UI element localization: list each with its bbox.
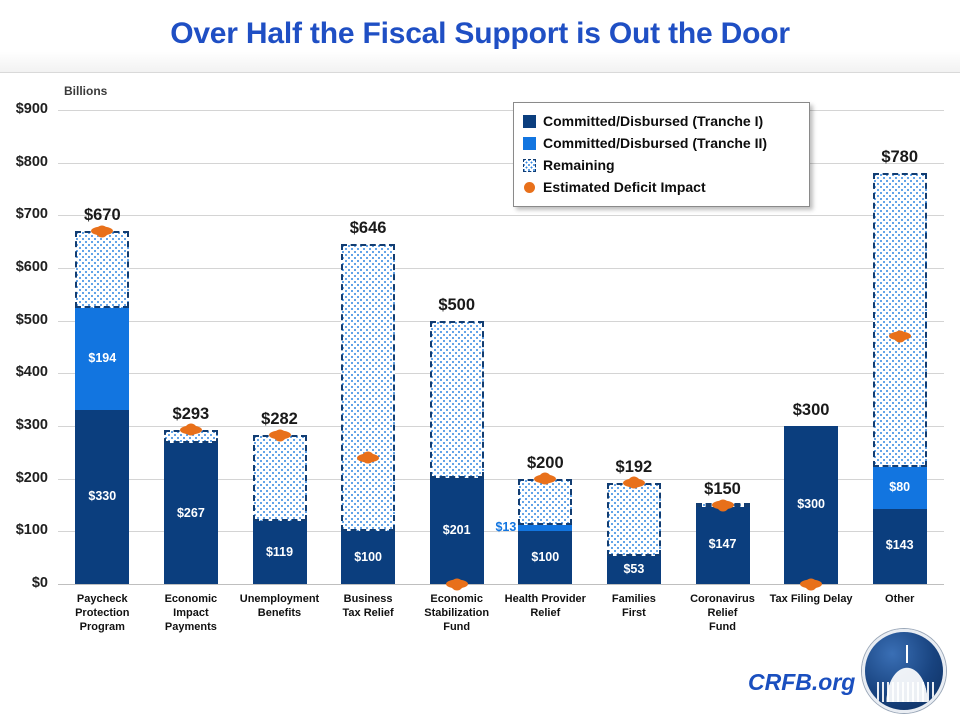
legend-item[interactable]: Committed/Disbursed (Tranche I) <box>523 110 800 132</box>
y-axis-tick-label: $0 <box>0 575 48 591</box>
plot-area: Billions $0$100$200$300$400$500$600$700$… <box>0 73 960 720</box>
bar-segment-label: $300 <box>784 497 838 511</box>
bar-segment-tranche-1[interactable]: $147 <box>696 507 750 584</box>
chart-canvas: Over Half the Fiscal Support is Out the … <box>0 0 960 720</box>
title-band: Over Half the Fiscal Support is Out the … <box>0 0 960 73</box>
x-axis-category-line: Economic <box>412 592 501 606</box>
gridline <box>58 215 944 216</box>
bar-segment-label: $330 <box>75 489 129 503</box>
legend-swatch-icon <box>523 159 536 172</box>
gridline <box>58 268 944 269</box>
deficit-impact-marker[interactable] <box>623 478 645 487</box>
bar-total-label: $780 <box>855 148 945 167</box>
x-axis-category-line: Economic <box>147 592 236 606</box>
y-axis-tick-label: $900 <box>0 101 48 117</box>
bar-segment-tranche-1[interactable]: $100 <box>518 531 572 584</box>
x-axis-category-label: EconomicImpactPayments <box>147 592 236 634</box>
page-title: Over Half the Fiscal Support is Out the … <box>0 17 960 51</box>
bar-segment-label: $80 <box>873 480 927 494</box>
legend-label: Committed/Disbursed (Tranche II) <box>543 135 767 151</box>
x-axis-category-line: Other <box>855 592 944 606</box>
x-axis-category-label: BusinessTax Relief <box>324 592 413 620</box>
crfb-capitol-logo-icon <box>862 629 946 713</box>
x-axis-category-label: Other <box>855 592 944 606</box>
bar-segment-remaining[interactable] <box>75 231 129 308</box>
deficit-impact-marker[interactable] <box>91 227 113 236</box>
bar-group[interactable]: $330$194$670 <box>75 231 129 584</box>
x-axis-category-label: Health ProviderRelief <box>501 592 590 620</box>
legend-swatch-icon <box>524 182 535 193</box>
bar-segment-remaining[interactable] <box>873 173 927 466</box>
x-axis-category-line: Unemployment <box>235 592 324 606</box>
bar-segment-remaining[interactable] <box>253 435 307 521</box>
bar-segment-tranche-2[interactable]: $80 <box>873 467 927 509</box>
deficit-impact-marker[interactable] <box>180 425 202 434</box>
deficit-impact-marker[interactable] <box>800 580 822 589</box>
bar-group[interactable]: $201$500 <box>430 321 484 584</box>
x-axis-category-line: Business <box>324 592 413 606</box>
legend-item[interactable]: Estimated Deficit Impact <box>523 176 800 198</box>
gridline <box>58 373 944 374</box>
legend-label: Committed/Disbursed (Tranche I) <box>543 113 763 129</box>
legend-item[interactable]: Remaining <box>523 154 800 176</box>
bar-segment-tranche-2[interactable]: $194 <box>75 308 129 410</box>
x-axis-category-label: UnemploymentBenefits <box>235 592 324 620</box>
x-axis-category-line: Relief <box>678 606 767 620</box>
brand-text: CRFB.org <box>748 669 855 696</box>
deficit-impact-marker[interactable] <box>889 332 911 341</box>
bar-segment-tranche-1[interactable]: $100 <box>341 531 395 584</box>
gridline <box>58 163 944 164</box>
bar-segment-label: $267 <box>164 506 218 520</box>
bar-total-label: $300 <box>766 401 856 420</box>
bar-segment-remaining[interactable] <box>341 244 395 532</box>
bar-segment-label: $194 <box>75 351 129 365</box>
bar-segment-label: $100 <box>518 550 572 564</box>
bar-total-label: $200 <box>500 454 590 473</box>
bar-segment-tranche-1[interactable]: $267 <box>164 443 218 584</box>
logo-spire <box>906 645 908 663</box>
x-axis-category-line: Relief <box>501 606 590 620</box>
x-axis-category-line: Benefits <box>235 606 324 620</box>
bar-segment-tranche-1[interactable]: $143 <box>873 509 927 584</box>
deficit-impact-marker[interactable] <box>534 474 556 483</box>
bar-total-label: $150 <box>678 480 768 499</box>
x-axis-category-line: Fund <box>412 620 501 634</box>
x-axis-category-line: Stabilization <box>412 606 501 620</box>
bar-segment-label: $53 <box>607 562 661 576</box>
y-axis-tick-label: $400 <box>0 364 48 380</box>
bar-segment-label: $13 <box>468 520 518 534</box>
y-axis-tick-label: $700 <box>0 206 48 222</box>
deficit-impact-marker[interactable] <box>269 431 291 440</box>
logo-colonnade <box>877 682 937 702</box>
x-axis-category-label: Tax Filing Delay <box>767 592 856 606</box>
x-axis-category-line: Paycheck <box>58 592 147 606</box>
bar-total-label: $646 <box>323 219 413 238</box>
legend-swatch-icon <box>523 115 536 128</box>
gridline <box>58 321 944 322</box>
bar-total-label: $670 <box>57 206 147 225</box>
x-axis-category-line: Payments <box>147 620 236 634</box>
bar-group[interactable]: $267$293 <box>164 430 218 584</box>
legend-item[interactable]: Committed/Disbursed (Tranche II) <box>523 132 800 154</box>
x-axis-category-line: Fund <box>678 620 767 634</box>
bar-total-label: $192 <box>589 458 679 477</box>
x-axis-category-line: Health Provider <box>501 592 590 606</box>
bar-segment-label: $119 <box>253 545 307 559</box>
y-axis-tick-label: $600 <box>0 259 48 275</box>
x-axis-category-line: Families <box>590 592 679 606</box>
bar-group[interactable]: $300$300 <box>784 426 838 584</box>
bar-total-label: $500 <box>412 296 502 315</box>
bar-group[interactable]: $53$192 <box>607 483 661 584</box>
x-axis-category-line: First <box>590 606 679 620</box>
x-axis-category-line: Protection <box>58 606 147 620</box>
bar-total-label: $293 <box>146 405 236 424</box>
y-axis-tick-label: $800 <box>0 154 48 170</box>
bar-segment-remaining[interactable] <box>607 483 661 556</box>
deficit-impact-marker[interactable] <box>357 453 379 462</box>
bar-segment-remaining[interactable] <box>430 321 484 478</box>
y-axis-tick-label: $100 <box>0 522 48 538</box>
bar-group[interactable]: $100$646 <box>341 244 395 584</box>
x-axis-category-line: Program <box>58 620 147 634</box>
bar-segment-label: $143 <box>873 538 927 552</box>
chart-legend: Committed/Disbursed (Tranche I)Committed… <box>513 102 810 207</box>
x-axis-category-label: FamiliesFirst <box>590 592 679 620</box>
deficit-impact-marker[interactable] <box>446 580 468 589</box>
x-axis-category-label: CoronavirusReliefFund <box>678 592 767 634</box>
x-axis-category-line: Coronavirus <box>678 592 767 606</box>
bar-segment-remaining[interactable] <box>518 479 572 525</box>
bar-segment-tranche-1[interactable]: $300 <box>784 426 838 584</box>
x-axis-category-line: Impact <box>147 606 236 620</box>
bar-segment-tranche-2[interactable]: $13 <box>518 525 572 532</box>
x-axis-category-line: Tax Relief <box>324 606 413 620</box>
bar-segment-label: $100 <box>341 550 395 564</box>
bar-segment-tranche-1[interactable]: $53 <box>607 556 661 584</box>
x-axis-category-label: EconomicStabilizationFund <box>412 592 501 634</box>
legend-label: Estimated Deficit Impact <box>543 179 706 195</box>
legend-swatch-icon <box>523 137 536 150</box>
y-axis-tick-label: $200 <box>0 470 48 486</box>
bar-group[interactable]: $147$150 <box>696 505 750 584</box>
bar-total-label: $282 <box>235 410 325 429</box>
bar-group[interactable]: $119$282 <box>253 435 307 584</box>
legend-label: Remaining <box>543 157 615 173</box>
bar-segment-tranche-1[interactable]: $119 <box>253 521 307 584</box>
bar-group[interactable]: $143$80$780 <box>873 173 927 584</box>
x-axis-category-label: PaycheckProtectionProgram <box>58 592 147 634</box>
bar-segment-label: $147 <box>696 537 750 551</box>
x-axis-category-line: Tax Filing Delay <box>767 592 856 606</box>
y-axis-tick-label: $300 <box>0 417 48 433</box>
y-axis-tick-label: $500 <box>0 312 48 328</box>
bar-group[interactable]: $100$13$200 <box>518 479 572 584</box>
gridline <box>58 110 944 111</box>
bar-segment-tranche-1[interactable]: $330 <box>75 410 129 584</box>
deficit-impact-marker[interactable] <box>712 501 734 510</box>
